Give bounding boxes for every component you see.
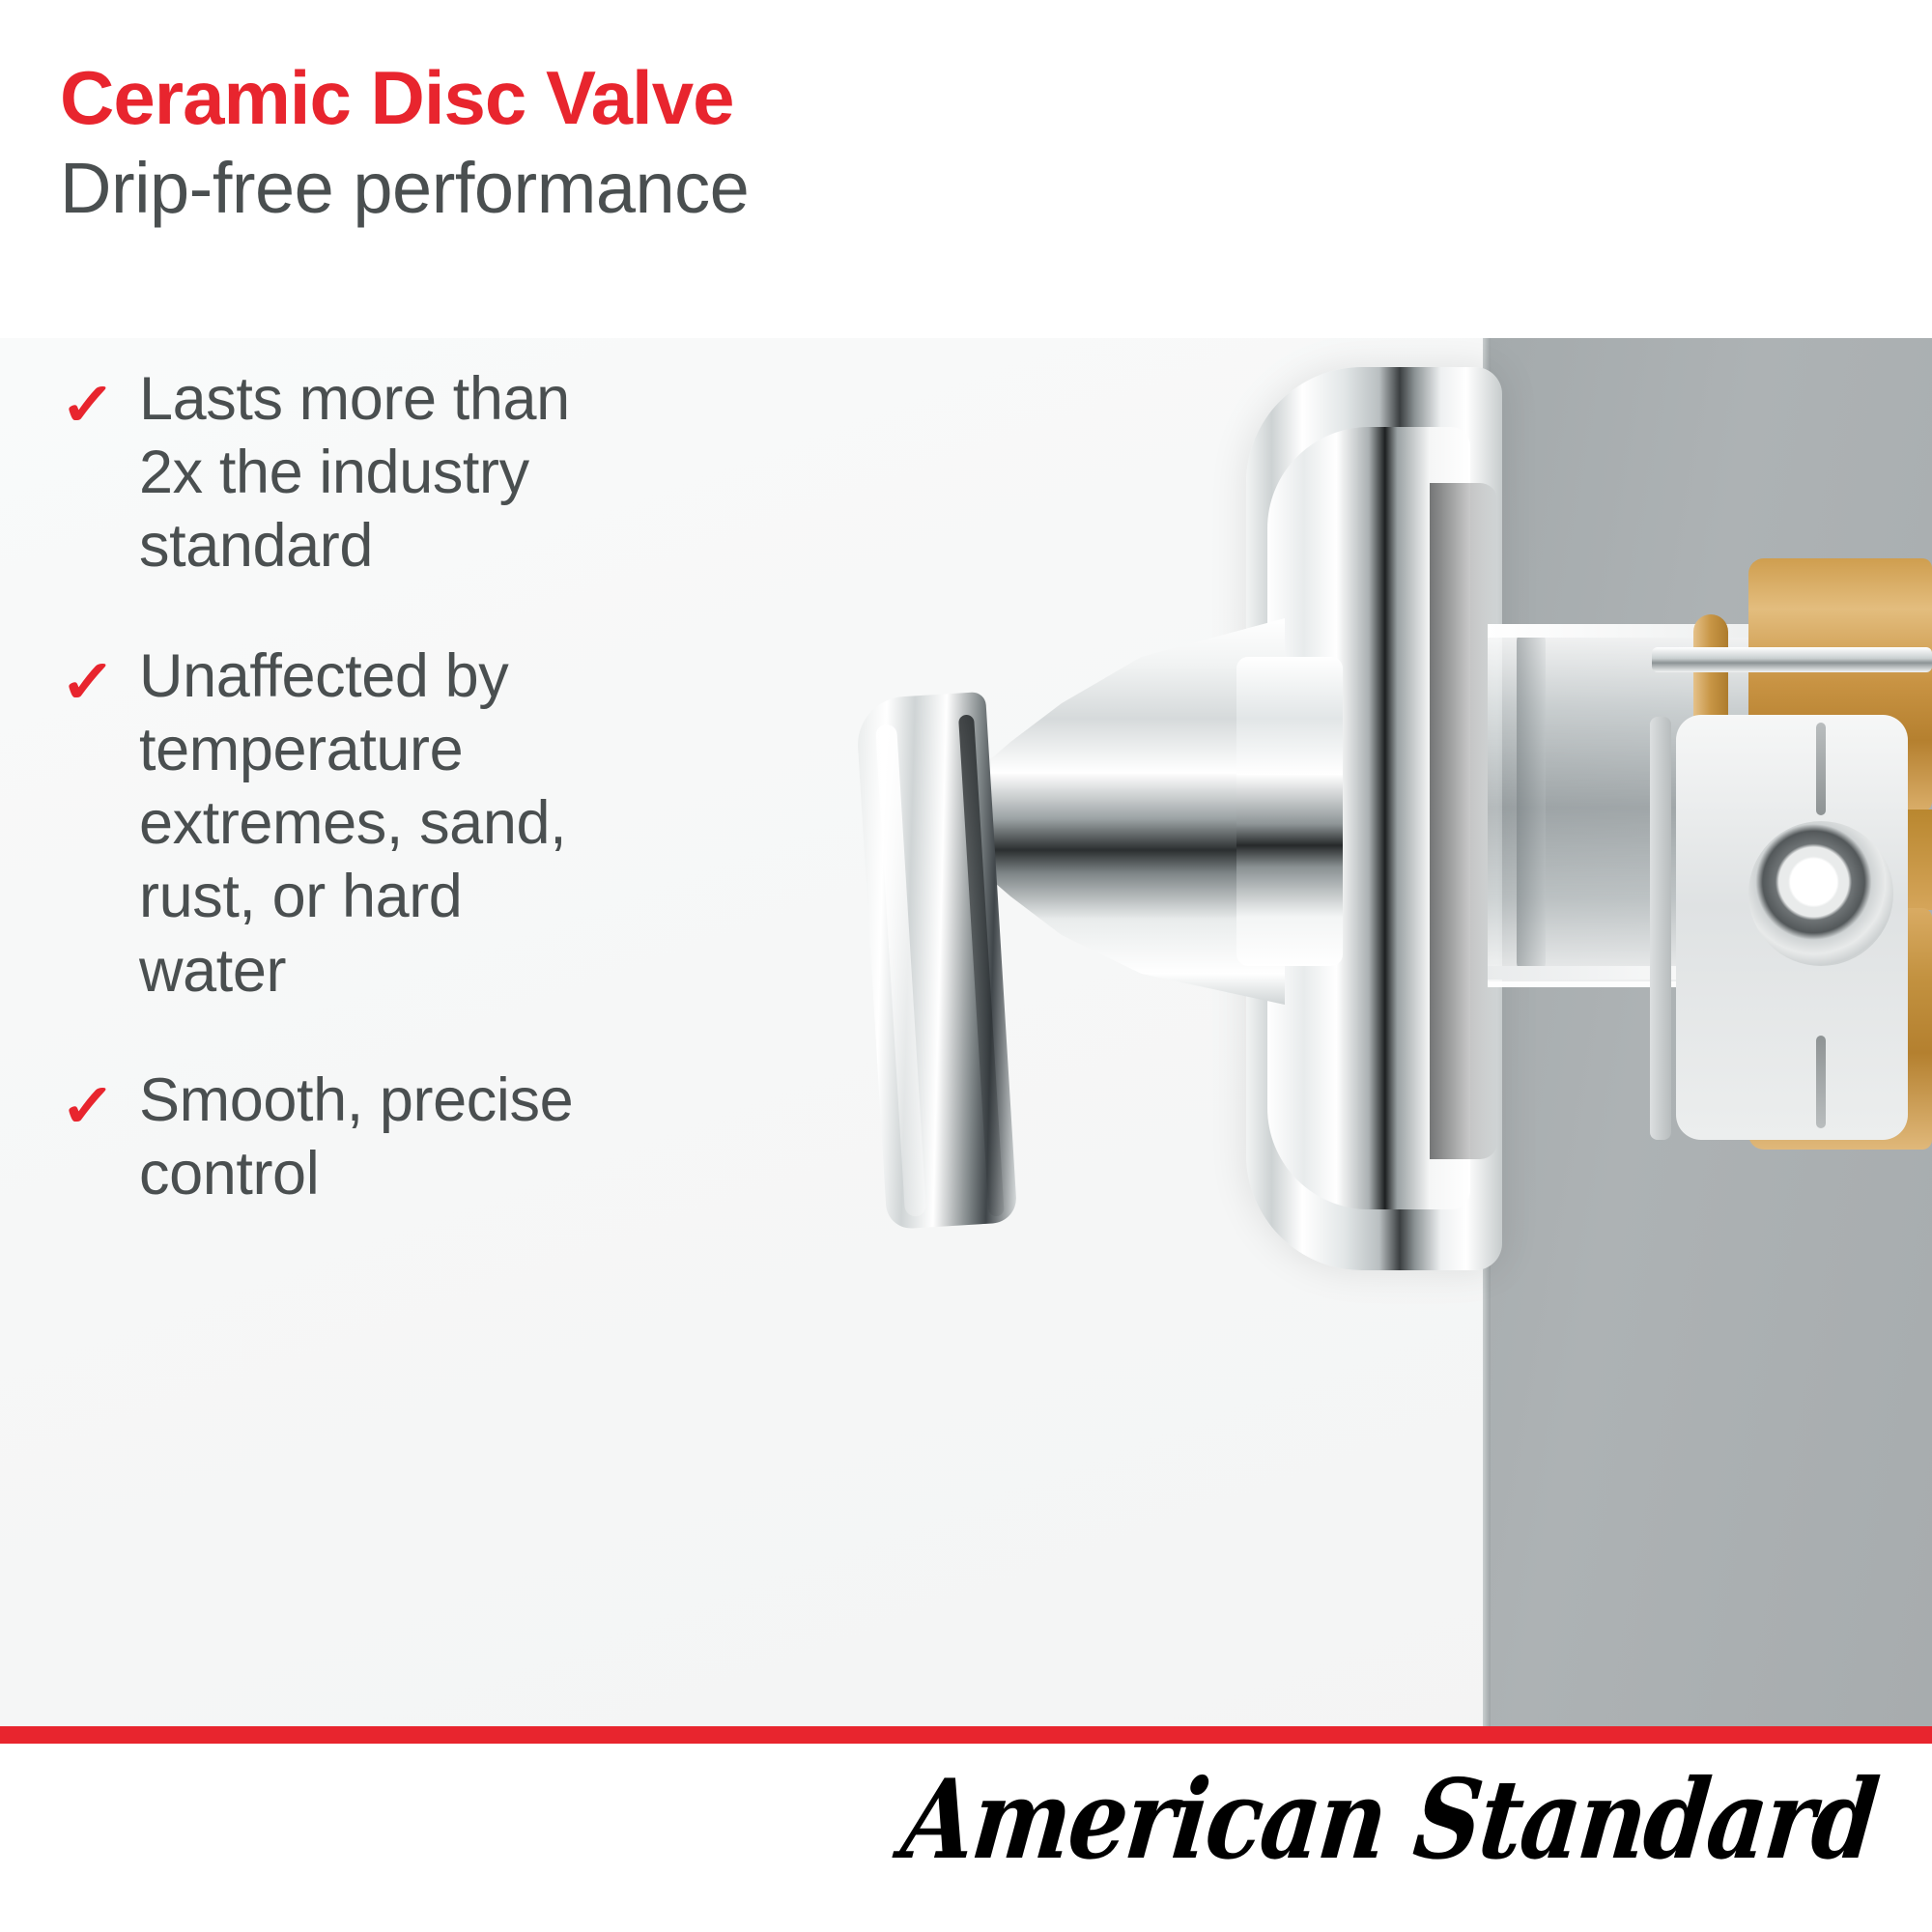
seat-slot-bottom	[1816, 1036, 1826, 1128]
handle-neck	[1236, 657, 1343, 966]
chrome-rod	[1652, 647, 1932, 672]
feature-text: Smooth, precise control	[139, 1064, 736, 1210]
content-panel: ✓ Lasts more than 2x the industry standa…	[0, 338, 1932, 1726]
feature-text: Unaffected by temperature extremes, sand…	[139, 639, 736, 1008]
check-icon: ✓	[60, 1064, 149, 1137]
cartridge-top-band	[1488, 624, 1777, 638]
american-standard-logo: American Standard	[896, 1755, 1883, 1884]
cartridge-highlight	[1517, 628, 1546, 976]
check-icon: ✓	[60, 362, 149, 436]
product-illustration	[850, 338, 1932, 1726]
page-title: Ceramic Disc Valve	[60, 60, 1932, 135]
page-subtitle: Drip-free performance	[60, 153, 1932, 224]
check-icon: ✓	[60, 639, 149, 713]
seat-slot-top	[1816, 723, 1826, 815]
list-item: ✓ Unaffected by temperature extremes, sa…	[60, 639, 736, 1008]
feature-list: ✓ Lasts more than 2x the industry standa…	[60, 362, 736, 1266]
footer-divider	[0, 1726, 1932, 1744]
footer: American Standard	[0, 1744, 1932, 1932]
retaining-clip	[1650, 717, 1671, 1140]
infographic-page: Ceramic Disc Valve Drip-free performance…	[0, 0, 1932, 1932]
list-item: ✓ Lasts more than 2x the industry standa…	[60, 362, 736, 583]
feature-text: Lasts more than 2x the industry standard	[139, 362, 736, 583]
list-item: ✓ Smooth, precise control	[60, 1064, 736, 1210]
o-ring-seal	[1748, 821, 1893, 966]
header: Ceramic Disc Valve Drip-free performance	[0, 0, 1932, 338]
